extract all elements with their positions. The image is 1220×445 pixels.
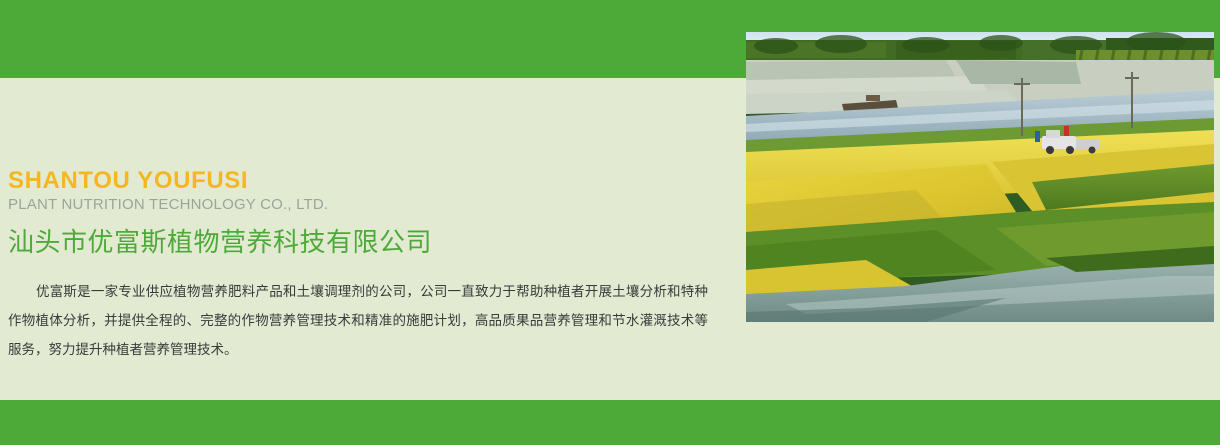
bottom-green-band <box>0 400 1220 445</box>
brand-block: SHANTOU YOUFUSI PLANT NUTRITION TECHNOLO… <box>8 168 708 260</box>
company-name-english: SHANTOU YOUFUSI <box>8 168 708 193</box>
farm-field-photo <box>746 32 1214 322</box>
company-intro-paragraph: 优富斯是一家专业供应植物营养肥料产品和土壤调理剂的公司，公司一直致力于帮助种植者… <box>8 278 708 365</box>
company-subtitle-english: PLANT NUTRITION TECHNOLOGY CO., LTD. <box>8 196 708 214</box>
page-root: SHANTOU YOUFUSI PLANT NUTRITION TECHNOLO… <box>0 0 1220 445</box>
content-area: SHANTOU YOUFUSI PLANT NUTRITION TECHNOLO… <box>0 78 745 400</box>
company-name-chinese: 汕头市优富斯植物营养科技有限公司 <box>8 227 708 260</box>
